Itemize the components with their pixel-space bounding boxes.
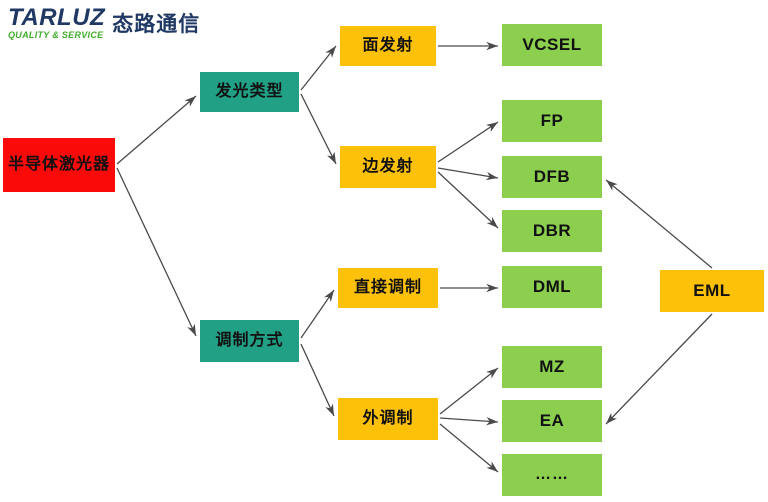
- node-edge[interactable]: 边发射: [340, 146, 436, 188]
- node-root[interactable]: 半导体激光器: [3, 138, 115, 192]
- node-edge-label: 边发射: [362, 158, 413, 176]
- node-direct[interactable]: 直接调制: [338, 268, 438, 308]
- edge-modul-to-direct: [301, 290, 334, 338]
- node-mz-label: MZ: [539, 357, 565, 376]
- edge-eml-to-ea: [606, 314, 712, 424]
- node-dfb-label: DFB: [534, 167, 570, 186]
- edge-edge-to-fp: [438, 122, 498, 162]
- node-dml[interactable]: DML: [502, 266, 602, 308]
- node-modul[interactable]: 调制方式: [200, 320, 299, 362]
- node-dbr[interactable]: DBR: [502, 210, 602, 252]
- edge-root-to-emission: [117, 96, 196, 164]
- node-fp-label: FP: [541, 111, 564, 130]
- edge-external-to-ea: [440, 418, 498, 422]
- node-external-label: 外调制: [362, 410, 413, 428]
- tarluz-logo: TARLUZ QUALITY & SERVICE 态路通信: [8, 6, 200, 40]
- node-ea[interactable]: EA: [502, 400, 602, 442]
- logo-brand-text: TARLUZ: [8, 6, 105, 30]
- node-eml[interactable]: EML: [660, 270, 764, 312]
- node-root-label: 半导体激光器: [8, 156, 110, 174]
- node-external[interactable]: 外调制: [338, 398, 438, 440]
- node-mz[interactable]: MZ: [502, 346, 602, 388]
- node-emission[interactable]: 发光类型: [200, 72, 299, 112]
- edge-eml-to-dfb: [606, 180, 712, 268]
- node-surface-label: 面发射: [362, 37, 413, 55]
- node-fp[interactable]: FP: [502, 100, 602, 142]
- edge-root-to-modul: [117, 168, 196, 336]
- node-direct-label: 直接调制: [354, 279, 422, 297]
- node-dml-label: DML: [533, 277, 571, 296]
- logo-chinese-name: 态路通信: [112, 8, 200, 38]
- node-eml-label: EML: [693, 281, 730, 300]
- node-vcsel[interactable]: VCSEL: [502, 24, 602, 66]
- edge-emission-to-edge: [301, 94, 336, 164]
- edge-emission-to-surface: [301, 46, 336, 90]
- node-surface[interactable]: 面发射: [340, 26, 436, 66]
- diagram-canvas: TARLUZ QUALITY & SERVICE 态路通信 半导体激光器发光类型…: [0, 0, 768, 502]
- edge-external-to-mz: [440, 368, 498, 414]
- node-vcsel-label: VCSEL: [522, 35, 581, 54]
- node-etc[interactable]: ……: [502, 454, 602, 496]
- node-modul-label: 调制方式: [215, 332, 283, 350]
- node-etc-label: ……: [535, 466, 569, 484]
- node-dbr-label: DBR: [533, 221, 571, 240]
- edge-edge-to-dfb: [438, 168, 498, 178]
- logo-wordmark: TARLUZ QUALITY & SERVICE: [8, 6, 105, 40]
- edge-edge-to-dbr: [438, 172, 498, 228]
- edge-modul-to-external: [301, 344, 334, 416]
- edge-external-to-etc: [440, 424, 498, 472]
- node-emission-label: 发光类型: [215, 83, 283, 101]
- node-dfb[interactable]: DFB: [502, 156, 602, 198]
- logo-tagline-text: QUALITY & SERVICE: [8, 31, 105, 40]
- node-ea-label: EA: [540, 411, 565, 430]
